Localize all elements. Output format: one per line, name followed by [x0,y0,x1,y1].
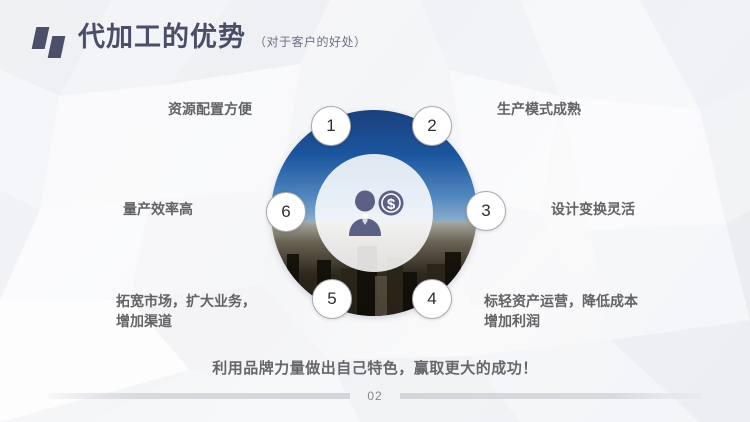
footer-rule-left [48,393,350,399]
title-group: 代加工的优势 （对于客户的好处） [78,24,367,51]
diagram-label-5: 拓宽市场，扩大业务， 增加渠道 [116,291,256,332]
node-number: 4 [427,289,436,309]
diagram-node-6[interactable]: 6 [266,192,306,232]
node-number: 2 [427,116,436,136]
brand-logo-mark-icon [32,27,74,59]
diagram-label-1: 资源配置方便 [168,99,252,119]
diagram-node-3[interactable]: 3 [466,191,506,231]
businessperson-with-money-icon: $ [343,189,405,237]
slide-header: 代加工的优势 （对于客户的好处） [0,0,750,80]
node-number: 6 [281,202,290,222]
node-number: 5 [327,289,336,309]
diagram-node-2[interactable]: 2 [412,106,452,146]
node-number: 3 [481,201,490,221]
page-title: 代加工的优势 [78,24,246,51]
diagram-node-4[interactable]: 4 [412,279,452,319]
footer-rule-right [400,393,702,399]
slide-canvas: 代加工的优势 （对于客户的好处） [0,0,750,422]
diagram-node-5[interactable]: 5 [312,279,352,319]
node-number: 1 [326,116,335,136]
slide-tagline: 利用品牌力量做出自己特色，赢取更大的成功！ [0,357,750,378]
diagram-label-3: 设计变换灵活 [551,199,635,219]
slide-footer: 02 [0,385,750,407]
page-number: 02 [364,389,386,403]
page-subtitle: （对于客户的好处） [254,33,367,50]
center-icon-badge: $ [315,154,433,272]
svg-text:$: $ [387,196,396,213]
diagram-label-2: 生产模式成熟 [497,99,581,119]
diagram-label-6: 量产效率高 [123,199,193,219]
diagram-label-4: 标轻资产运营，降低成本 增加利润 [484,291,638,332]
diagram-node-1[interactable]: 1 [311,106,351,146]
